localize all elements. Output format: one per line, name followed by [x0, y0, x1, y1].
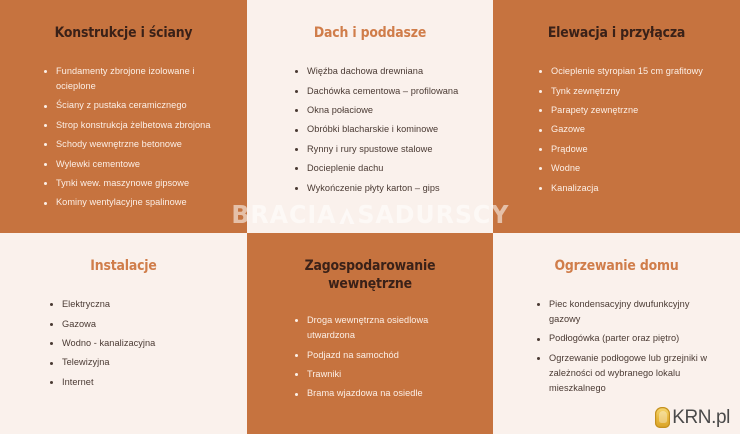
bullet-icon [295, 354, 298, 357]
bullet-icon [50, 381, 53, 384]
bullet-icon [539, 109, 542, 112]
list-item: Gazowe [539, 122, 722, 137]
list-item-label: Wodno - kanalizacyjna [62, 338, 155, 348]
panel-feature-list: Droga wewnętrzna osiedlowa utwardzona Po… [265, 313, 475, 401]
bullet-icon [50, 362, 53, 365]
bullet-icon [295, 393, 298, 396]
list-item-label: Gazowe [551, 124, 585, 134]
panel-elewacja-i-przylacza: Elewacja i przyłącza Ocieplenie styropia… [493, 0, 740, 233]
list-item-label: Wodne [551, 163, 580, 173]
list-item: Brama wjazdowa na osiedle [295, 386, 475, 401]
bullet-icon [44, 105, 47, 108]
list-item: Internet [50, 375, 229, 390]
list-item-label: Podłogówka (parter oraz piętro) [549, 333, 679, 343]
list-item-label: Obróbki blacharskie i kominowe [307, 124, 438, 134]
list-item: Strop konstrukcja żelbetowa zbrojona [44, 118, 229, 133]
bullet-icon [44, 202, 47, 205]
list-item: Kanalizacja [539, 181, 722, 196]
bullet-icon [44, 143, 47, 146]
list-item-label: Brama wjazdowa na osiedle [307, 388, 423, 398]
bullet-icon [295, 129, 298, 132]
panel-grid: Konstrukcje i ściany Fundamenty zbrojone… [0, 0, 740, 434]
krn-logo-text: KRN.pl [672, 408, 730, 427]
panel-feature-list: Więźba dachowa drewniana Dachówka cement… [265, 64, 475, 195]
panel-ogrzewanie-domu: Ogrzewanie domu Piec kondensacyjny dwufu… [493, 233, 740, 434]
list-item: Docieplenie dachu [295, 161, 475, 176]
list-item-label: Kanalizacja [551, 183, 599, 193]
list-item: Elektryczna [50, 297, 229, 312]
bullet-icon [539, 167, 542, 170]
list-item: Okna połaciowe [295, 103, 475, 118]
list-item: Rynny i rury spustowe stalowe [295, 142, 475, 157]
list-item-label: Droga wewnętrzna osiedlowa utwardzona [307, 315, 428, 340]
list-item-label: Telewizyjna [62, 357, 110, 367]
list-item: Tynk zewnętrzny [539, 84, 722, 99]
bullet-icon [537, 338, 540, 341]
panel-title: Elewacja i przyłącza [526, 24, 707, 42]
panel-title: Instalacje [33, 257, 214, 275]
list-item-label: Więźba dachowa drewniana [307, 66, 423, 76]
panel-instalacje: Instalacje Elektryczna Gazowa Wodno - ka… [0, 233, 247, 434]
panel-title: Ogrzewanie domu [526, 257, 707, 275]
list-item-label: Schody wewnętrzne betonowe [56, 139, 182, 149]
list-item-label: Prądowe [551, 144, 588, 154]
list-item-label: Okna połaciowe [307, 105, 373, 115]
list-item-label: Ogrzewanie podłogowe lub grzejniki w zal… [549, 353, 707, 393]
krn-shield-icon [655, 407, 670, 428]
list-item-label: Tynk zewnętrzny [551, 86, 620, 96]
panel-konstrukcje-i-sciany: Konstrukcje i ściany Fundamenty zbrojone… [0, 0, 247, 233]
list-item: Prądowe [539, 142, 722, 157]
bullet-icon [295, 109, 298, 112]
bullet-icon [295, 319, 298, 322]
list-item: Schody wewnętrzne betonowe [44, 137, 229, 152]
bullet-icon [44, 70, 47, 73]
list-item-label: Docieplenie dachu [307, 163, 383, 173]
panel-feature-list: Fundamenty zbrojone izolowane i ocieplon… [18, 64, 229, 210]
list-item-label: Dachówka cementowa – profilowana [307, 86, 458, 96]
panel-feature-list: Piec kondensacyjny dwufunkcyjny gazowy P… [511, 297, 722, 395]
list-item: Fundamenty zbrojone izolowane i ocieplon… [44, 64, 229, 94]
list-item-label: Ściany z pustaka ceramicznego [56, 100, 187, 110]
list-item-label: Ocieplenie styropian 15 cm grafitowy [551, 66, 703, 76]
list-item: Droga wewnętrzna osiedlowa utwardzona [295, 313, 475, 343]
list-item-label: Podjazd na samochód [307, 350, 399, 360]
list-item-label: Internet [62, 377, 94, 387]
list-item: Tynki wew. maszynowe gipsowe [44, 176, 229, 191]
bullet-icon [50, 303, 53, 306]
list-item: Dachówka cementowa – profilowana [295, 84, 475, 99]
panel-title: Konstrukcje i ściany [33, 24, 214, 42]
bullet-icon [295, 187, 298, 190]
list-item-label: Rynny i rury spustowe stalowe [307, 144, 433, 154]
list-item-label: Strop konstrukcja żelbetowa zbrojona [56, 120, 211, 130]
panel-title: Zagospodarowanie wewnętrzne [280, 257, 461, 293]
list-item-label: Wylewki cementowe [56, 159, 140, 169]
bullet-icon [295, 148, 298, 151]
list-item-label: Gazowa [62, 319, 96, 329]
list-item: Wodne [539, 161, 722, 176]
list-item: Ściany z pustaka ceramicznego [44, 98, 229, 113]
bullet-icon [539, 187, 542, 190]
list-item: Obróbki blacharskie i kominowe [295, 122, 475, 137]
panel-feature-list: Ocieplenie styropian 15 cm grafitowy Tyn… [511, 64, 722, 195]
list-item: Ocieplenie styropian 15 cm grafitowy [539, 64, 722, 79]
bullet-icon [539, 129, 542, 132]
panel-zagospodarowanie-wewnetrzne: Zagospodarowanie wewnętrzne Droga wewnęt… [247, 233, 493, 434]
list-item: Wodno - kanalizacyjna [50, 336, 229, 351]
bullet-icon [44, 124, 47, 127]
list-item-label: Fundamenty zbrojone izolowane i ocieplon… [56, 66, 194, 91]
krn-logo[interactable]: KRN.pl [655, 407, 730, 428]
list-item: Wykończenie płyty karton – gips [295, 181, 475, 196]
list-item: Więźba dachowa drewniana [295, 64, 475, 79]
list-item-label: Parapety zewnętrzne [551, 105, 638, 115]
list-item-label: Elektryczna [62, 299, 110, 309]
panel-feature-list: Elektryczna Gazowa Wodno - kanalizacyjna… [18, 297, 229, 390]
bullet-icon [539, 90, 542, 93]
panel-dach-i-poddasze: Dach i poddasze Więźba dachowa drewniana… [247, 0, 493, 233]
bullet-icon [295, 167, 298, 170]
bullet-icon [539, 70, 542, 73]
bullet-icon [44, 182, 47, 185]
bullet-icon [295, 373, 298, 376]
panel-title: Dach i poddasze [280, 24, 461, 42]
bullet-icon [539, 148, 542, 151]
list-item-label: Trawniki [307, 369, 341, 379]
bullet-icon [295, 90, 298, 93]
infographic-root: Konstrukcje i ściany Fundamenty zbrojone… [0, 0, 740, 434]
bullet-icon [44, 163, 47, 166]
list-item: Podłogówka (parter oraz piętro) [537, 331, 722, 346]
list-item-label: Kominy wentylacyjne spalinowe [56, 197, 187, 207]
list-item: Gazowa [50, 317, 229, 332]
list-item: Telewizyjna [50, 355, 229, 370]
list-item: Podjazd na samochód [295, 348, 475, 363]
list-item: Piec kondensacyjny dwufunkcyjny gazowy [537, 297, 722, 327]
list-item: Kominy wentylacyjne spalinowe [44, 195, 229, 210]
list-item: Ogrzewanie podłogowe lub grzejniki w zal… [537, 351, 722, 396]
list-item-label: Piec kondensacyjny dwufunkcyjny gazowy [549, 299, 689, 324]
bullet-icon [295, 70, 298, 73]
list-item: Wylewki cementowe [44, 157, 229, 172]
bullet-icon [50, 323, 53, 326]
bullet-icon [537, 357, 540, 360]
bullet-icon [50, 342, 53, 345]
list-item: Parapety zewnętrzne [539, 103, 722, 118]
list-item-label: Wykończenie płyty karton – gips [307, 183, 440, 193]
list-item: Trawniki [295, 367, 475, 382]
bullet-icon [537, 303, 540, 306]
list-item-label: Tynki wew. maszynowe gipsowe [56, 178, 189, 188]
